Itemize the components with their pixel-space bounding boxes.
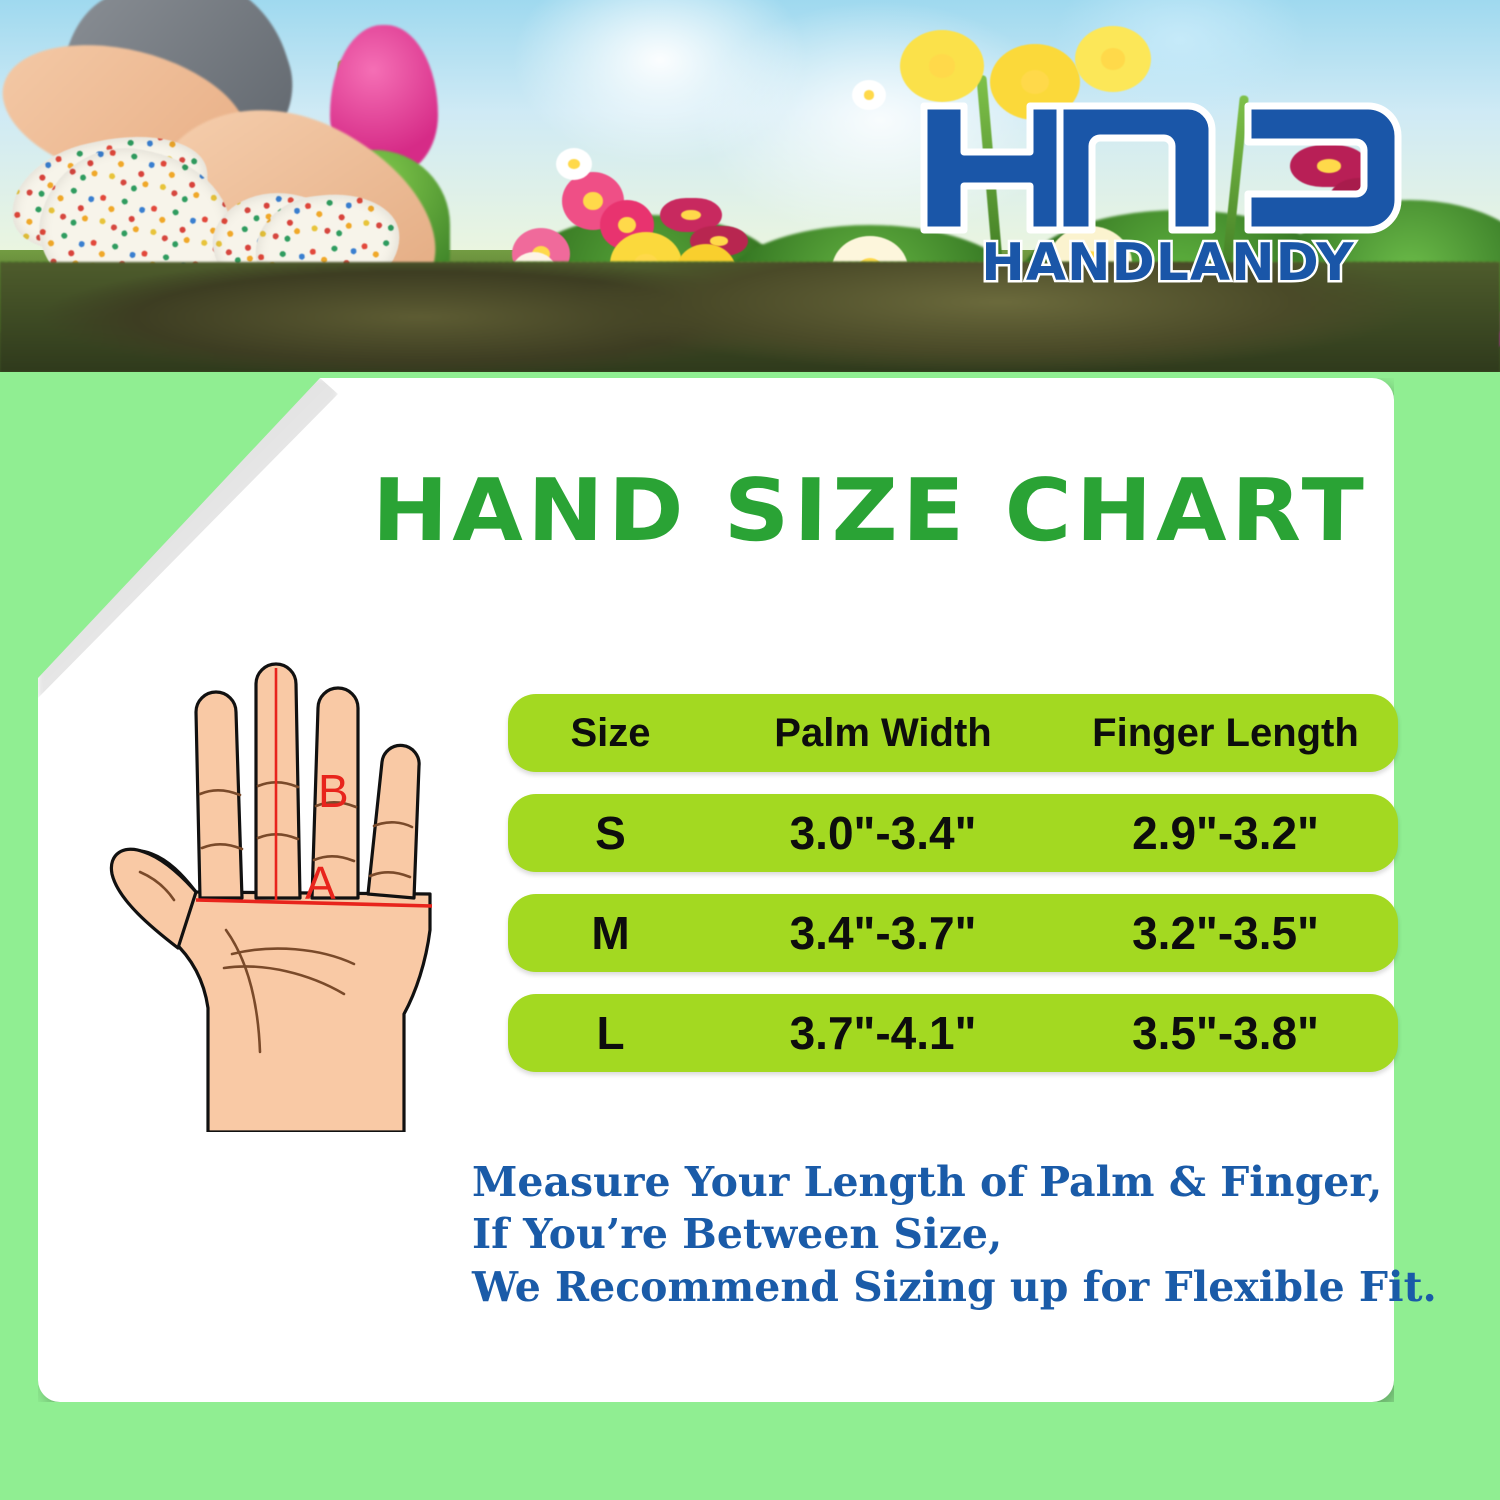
hand-measurement-diagram [96, 662, 486, 1132]
hnd-monogram-icon [924, 106, 1398, 230]
sizing-note-line-3: We Recommend Sizing up for Flexible Fit. [472, 1261, 1392, 1313]
daisy-flower [852, 80, 886, 110]
brand-wordmark: HANDLANDY [981, 233, 1355, 288]
table-row: S 3.0"-3.4" 2.9"-3.2" [508, 794, 1398, 872]
table-row: L 3.7"-4.1" 3.5"-3.8" [508, 994, 1398, 1072]
cell-size: S [508, 806, 713, 860]
daffodil-flower [1075, 26, 1151, 92]
sizing-note-line-1: Measure Your Length of Palm & Finger, [472, 1156, 1392, 1208]
page-title: HAND SIZE CHART [372, 468, 1443, 554]
sizing-note: Measure Your Length of Palm & Finger, If… [472, 1156, 1392, 1313]
column-header-finger-length: Finger Length [1053, 711, 1398, 756]
table-header-row: Size Palm Width Finger Length [508, 694, 1398, 772]
cell-palm-width: 3.4"-3.7" [713, 906, 1053, 960]
sizing-note-line-2: If You’re Between Size, [472, 1208, 1392, 1260]
column-header-size: Size [508, 711, 713, 756]
thumb [111, 849, 196, 948]
table-row: M 3.4"-3.7" 3.2"-3.5" [508, 894, 1398, 972]
label-a: A [305, 860, 336, 906]
index-finger [196, 692, 242, 898]
cell-palm-width: 3.0"-3.4" [713, 806, 1053, 860]
cell-finger-length: 3.5"-3.8" [1053, 1006, 1398, 1060]
label-b: B [318, 768, 349, 814]
column-header-palm-width: Palm Width [713, 711, 1053, 756]
size-chart-table: Size Palm Width Finger Length S 3.0"-3.4… [508, 694, 1398, 1094]
cell-size: M [508, 906, 713, 960]
brand-logo: HANDLANDY [910, 88, 1430, 288]
cell-palm-width: 3.7"-4.1" [713, 1006, 1053, 1060]
cell-size: L [508, 1006, 713, 1060]
cell-finger-length: 3.2"-3.5" [1053, 906, 1398, 960]
cell-finger-length: 2.9"-3.2" [1053, 806, 1398, 860]
hero-banner: HANDLANDY [0, 0, 1500, 372]
daisy-flower [556, 148, 592, 180]
